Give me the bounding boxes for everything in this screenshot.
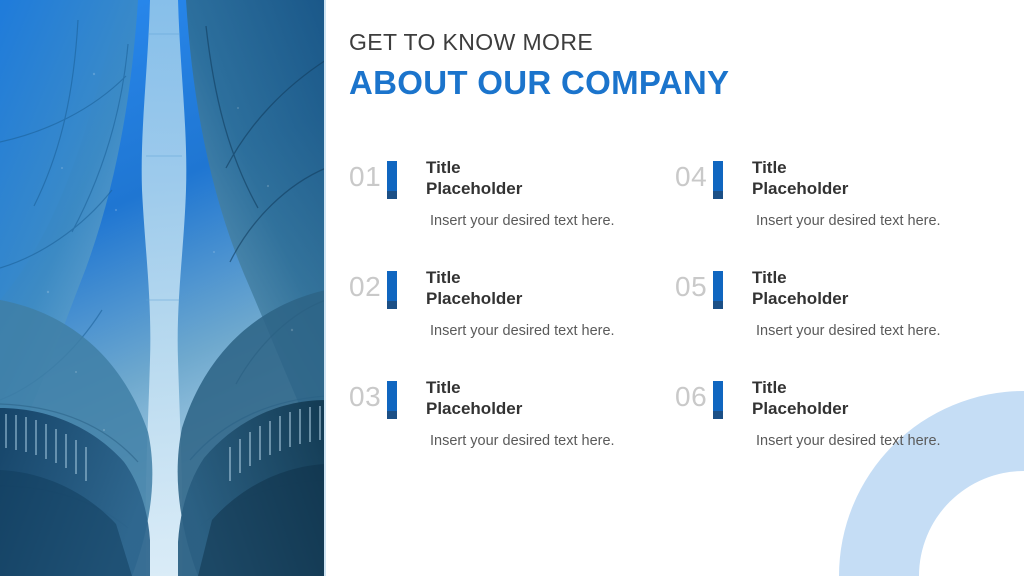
item-description: Insert your desired text here. <box>756 212 1001 231</box>
feature-item-header: 05 Title Placeholder <box>675 268 1001 309</box>
feature-item-01[interactable]: 01 Title Placeholder Insert your desired… <box>349 158 675 268</box>
item-number: 01 <box>349 158 387 191</box>
item-title: Title Placeholder <box>752 378 848 419</box>
panel-edge-accent <box>324 0 326 576</box>
feature-item-header: 06 Title Placeholder <box>675 378 1001 419</box>
accent-bar-icon <box>387 381 397 419</box>
eyebrow-text: GET TO KNOW MORE <box>349 28 989 57</box>
item-title: Title Placeholder <box>752 158 848 199</box>
item-title: Title Placeholder <box>752 268 848 309</box>
accent-bar-icon <box>387 161 397 199</box>
accent-bar-icon <box>387 271 397 309</box>
item-title: Title Placeholder <box>426 378 522 419</box>
item-description: Insert your desired text here. <box>430 322 675 341</box>
feature-item-03[interactable]: 03 Title Placeholder Insert your desired… <box>349 378 675 488</box>
accent-bar-icon <box>713 381 723 419</box>
item-number: 05 <box>675 268 713 301</box>
slide-heading-group: GET TO KNOW MORE ABOUT OUR COMPANY <box>349 28 989 103</box>
item-description: Insert your desired text here. <box>756 322 1001 341</box>
feature-item-05[interactable]: 05 Title Placeholder Insert your desired… <box>675 268 1001 378</box>
page-title: ABOUT OUR COMPANY <box>349 64 989 103</box>
item-number: 03 <box>349 378 387 411</box>
feature-item-04[interactable]: 04 Title Placeholder Insert your desired… <box>675 158 1001 268</box>
feature-item-header: 04 Title Placeholder <box>675 158 1001 199</box>
feature-item-header: 03 Title Placeholder <box>349 378 675 419</box>
feature-items-grid: 01 Title Placeholder Insert your desired… <box>349 158 999 488</box>
item-description: Insert your desired text here. <box>430 432 675 451</box>
hero-image-panel <box>0 0 326 576</box>
item-number: 02 <box>349 268 387 301</box>
item-title: Title Placeholder <box>426 158 522 199</box>
feature-item-header: 01 Title Placeholder <box>349 158 675 199</box>
item-description: Insert your desired text here. <box>430 212 675 231</box>
item-description: Insert your desired text here. <box>756 432 1001 451</box>
accent-bar-icon <box>713 271 723 309</box>
feature-item-06[interactable]: 06 Title Placeholder Insert your desired… <box>675 378 1001 488</box>
feature-item-header: 02 Title Placeholder <box>349 268 675 309</box>
item-number: 06 <box>675 378 713 411</box>
item-title: Title Placeholder <box>426 268 522 309</box>
accent-bar-icon <box>713 161 723 199</box>
item-number: 04 <box>675 158 713 191</box>
feature-item-02[interactable]: 02 Title Placeholder Insert your desired… <box>349 268 675 378</box>
slide: GET TO KNOW MORE ABOUT OUR COMPANY 01 Ti… <box>0 0 1024 576</box>
